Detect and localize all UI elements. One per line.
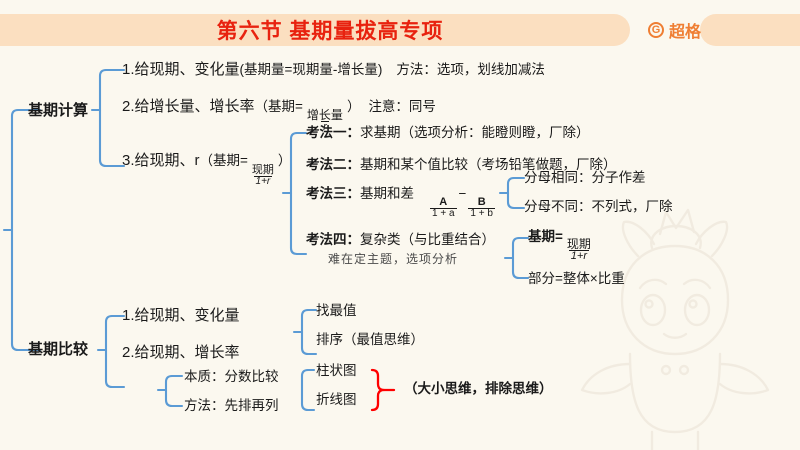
- kaofa3-label: 考法三：: [306, 186, 360, 201]
- node-item3[interactable]: 3.给现期、r（基期=现期1+r）: [122, 152, 291, 187]
- kaofa2-label: 考法二：: [306, 157, 360, 172]
- node-item1[interactable]: 1.给现期、变化量(基期量=现期量-增长量)方法：选项，划线加减法: [122, 61, 545, 78]
- kaofa1-text: 求基期（选项分析：能瞪则瞪，厂除）: [360, 125, 590, 140]
- kaofa3-frac-b-denominator: 1 + b: [468, 208, 495, 219]
- node-diff-denominator[interactable]: 分母不同：不列式，厂除: [524, 199, 673, 215]
- item2-fraction-numerator: 增长量: [305, 109, 345, 121]
- kaofa3-fraction-a: A1 + a: [430, 197, 457, 219]
- base-formula-fraction: 现期1+r: [565, 238, 593, 262]
- node-zhexiantu[interactable]: 折线图: [316, 392, 357, 408]
- kaofa4-text: 复杂类（与比重结合）: [360, 232, 495, 247]
- node-base-formula[interactable]: 基期=现期1+r: [528, 229, 595, 262]
- kaofa3-text: 基期和差: [360, 186, 414, 201]
- kaofa3-fraction-b: B1 + b: [468, 197, 495, 219]
- base-formula-denominator: 1+r: [569, 250, 589, 262]
- red-bracket: [372, 370, 394, 410]
- bitem2-num: 2.: [122, 344, 135, 361]
- node-zhaozuizhi[interactable]: 找最值: [316, 303, 357, 319]
- node-same-denominator[interactable]: 分母相同：分子作差: [524, 170, 646, 186]
- bitem1-label: 给现期、变化量: [135, 307, 240, 324]
- node-part-formula[interactable]: 部分=整体×比重: [528, 271, 625, 287]
- item3-formula-prefix: （基期=: [200, 153, 248, 168]
- page-title: 第六节 基期量拔高专项: [0, 14, 660, 46]
- kaofa3-frac-a-numerator: A: [437, 197, 449, 208]
- logo-g-icon: G: [648, 22, 664, 38]
- node-kaofa1[interactable]: 考法一：求基期（选项分析：能瞪则瞪，厂除）: [306, 125, 590, 141]
- node-fangfa[interactable]: 方法：先排再列: [184, 398, 279, 414]
- brand-logo: G 超格: [648, 14, 701, 46]
- item2-label: 给增长量、增长率: [135, 98, 255, 115]
- item3-fraction-denominator: 1+r: [254, 176, 273, 187]
- item1-label: 给现期、变化量: [135, 61, 240, 78]
- node-benzhi[interactable]: 本质：分数比较: [184, 369, 279, 385]
- item1-tail: 方法：选项，划线加减法: [396, 62, 545, 77]
- item3-fraction-numerator: 现期: [250, 165, 276, 176]
- bitem1-num: 1.: [122, 307, 135, 324]
- brand-name: 超格: [669, 18, 701, 42]
- item1-paren: (基期量=现期量-增长量): [240, 62, 383, 77]
- kaofa1-label: 考法一：: [306, 125, 360, 140]
- item2-formula-suffix: ）: [347, 99, 361, 114]
- item1-num: 1.: [122, 61, 135, 78]
- base-formula-prefix: 基期=: [528, 229, 563, 244]
- node-bitem1[interactable]: 1.给现期、变化量: [122, 307, 240, 324]
- bitem2-label: 给现期、增长率: [135, 344, 240, 361]
- node-paixu[interactable]: 排序（最值思维）: [316, 332, 424, 348]
- node-red-note: （大小思维，排除思维）: [404, 381, 553, 397]
- base-formula-numerator: 现期: [565, 238, 593, 250]
- branch-label-jiqi-jisuan[interactable]: 基期计算: [28, 102, 88, 119]
- kaofa3-frac-b-numerator: B: [476, 197, 488, 208]
- item2-num: 2.: [122, 98, 135, 115]
- item3-num: 3.: [122, 152, 135, 169]
- item2-tail: 注意：同号: [368, 99, 436, 114]
- node-zhuzhuangtu[interactable]: 柱状图: [316, 363, 357, 379]
- slide-canvas: 第六节 基期量拔高专项 G 超格: [0, 0, 800, 450]
- item2-formula-prefix: （基期=: [255, 99, 303, 114]
- node-kaofa4-subtext: 难在定主题，选项分析: [328, 253, 458, 267]
- item3-label: 给现期、r: [135, 152, 200, 169]
- kaofa3-frac-a-denominator: 1 + a: [430, 208, 457, 219]
- branch-label-jiqi-bijiao[interactable]: 基期比较: [28, 341, 88, 358]
- kaofa3-frac-operator: −: [459, 186, 467, 201]
- kaofa4-label: 考法四：: [306, 232, 360, 247]
- item3-fraction: 现期1+r: [250, 165, 276, 187]
- item3-formula-suffix: ）: [278, 153, 292, 168]
- node-bitem2[interactable]: 2.给现期、增长率: [122, 344, 240, 361]
- node-kaofa3[interactable]: 考法三：基期和差A1 + a−B1 + b: [306, 186, 497, 219]
- node-kaofa4[interactable]: 考法四：复杂类（与比重结合）: [306, 232, 495, 248]
- header-band-right: [700, 14, 800, 46]
